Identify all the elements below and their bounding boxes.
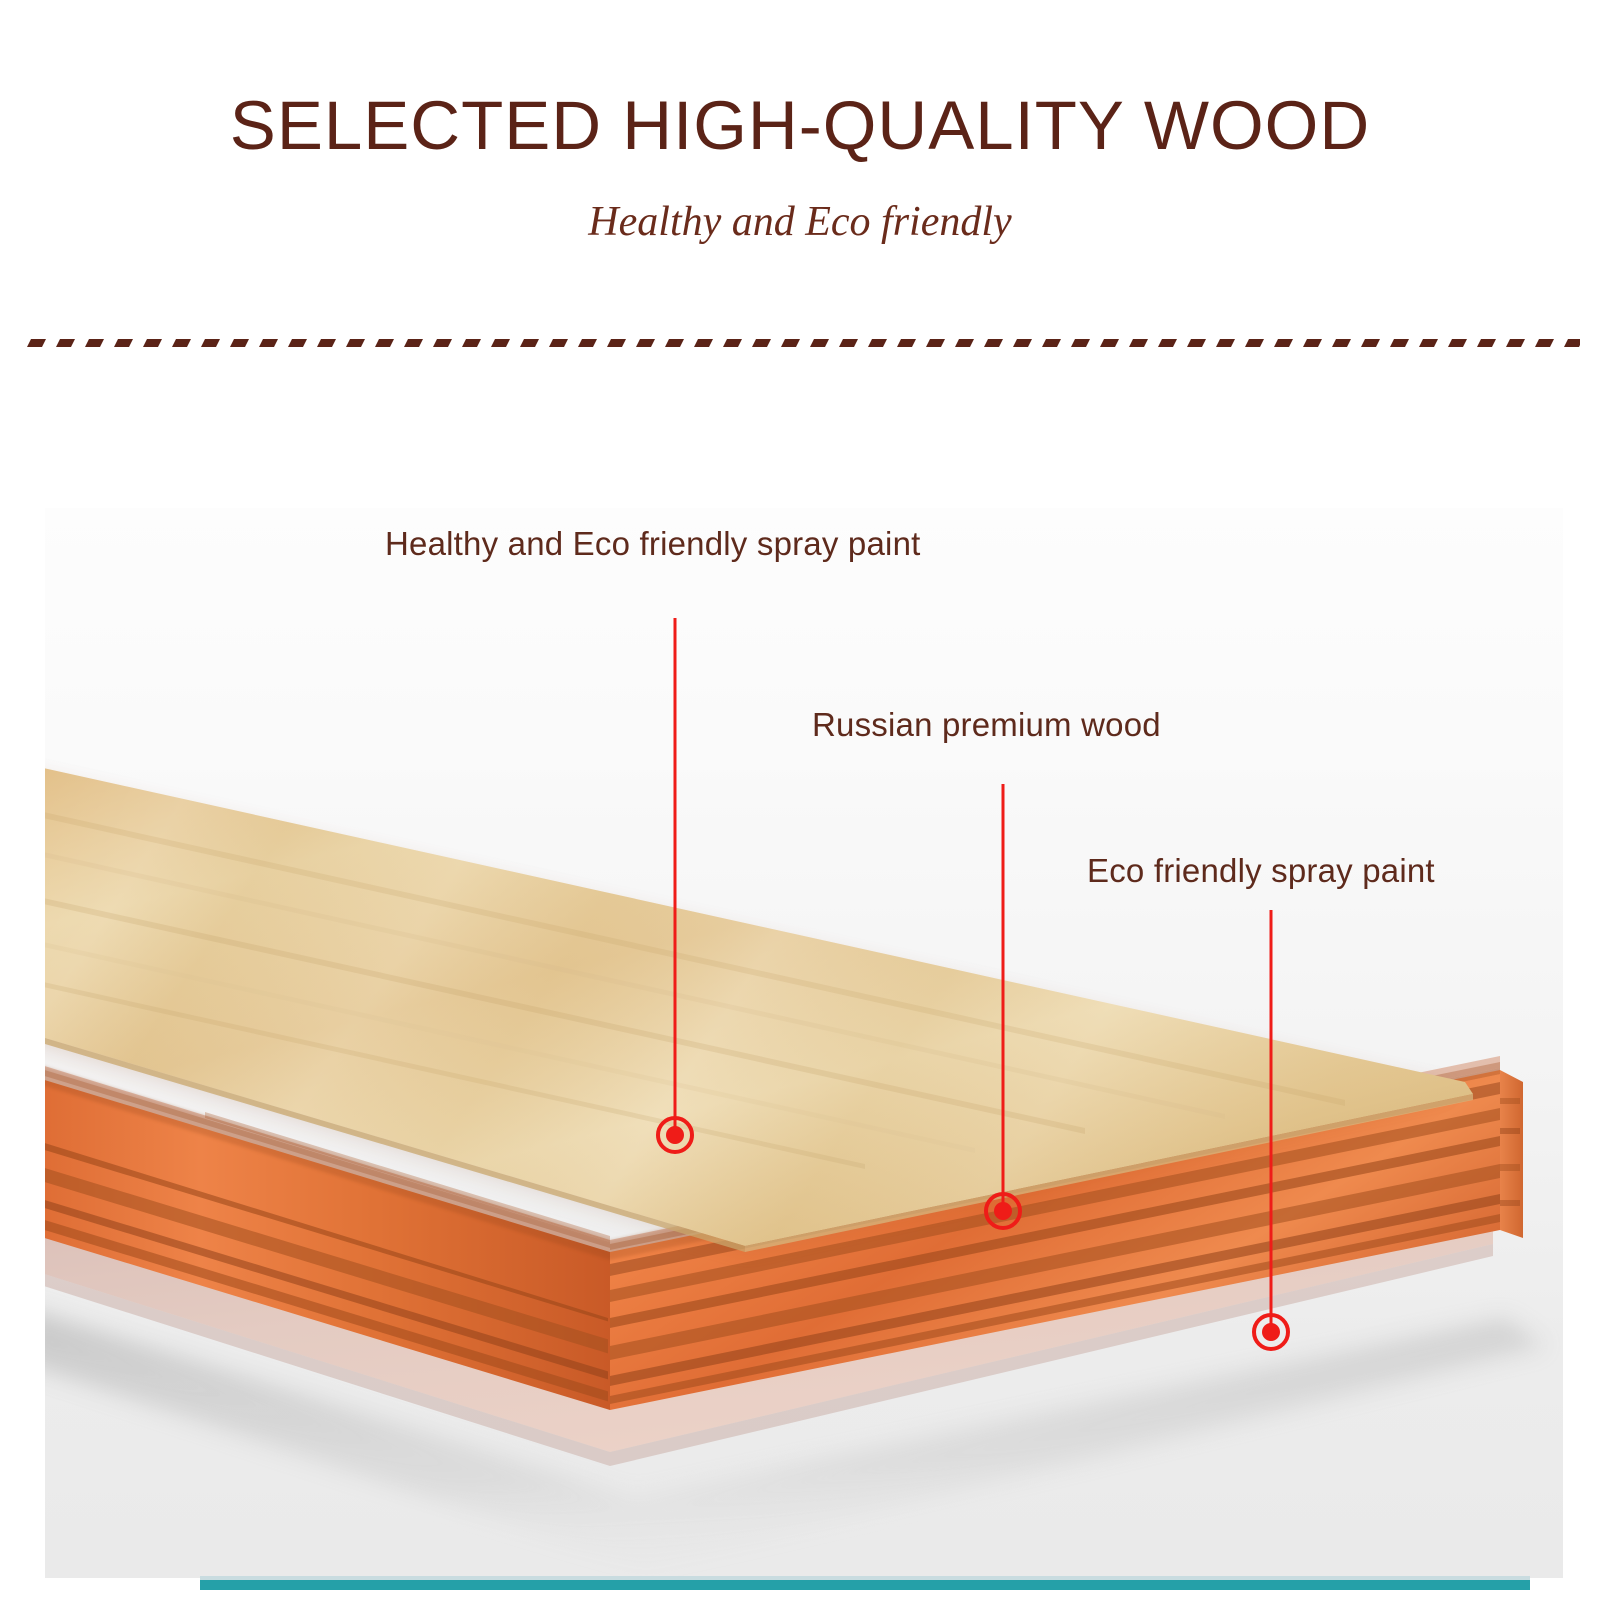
callout-label-eco-friendly-spray-paint: Eco friendly spray paint bbox=[1087, 852, 1435, 890]
callout-label-russian-premium-wood: Russian premium wood bbox=[812, 706, 1161, 744]
callout-label-eco-spray-paint-top: Healthy and Eco friendly spray paint bbox=[385, 525, 921, 563]
header-section: SELECTED HIGH-QUALITY WOOD Healthy and E… bbox=[0, 0, 1600, 320]
footer-accent-bar bbox=[200, 1580, 1530, 1590]
page-title: SELECTED HIGH-QUALITY WOOD bbox=[0, 86, 1600, 165]
dashed-divider bbox=[24, 336, 1580, 350]
page-subtitle: Healthy and Eco friendly bbox=[0, 198, 1600, 246]
product-infographic-page: SELECTED HIGH-QUALITY WOOD Healthy and E… bbox=[0, 0, 1600, 1600]
wood-layers-illustration bbox=[45, 508, 1563, 1578]
